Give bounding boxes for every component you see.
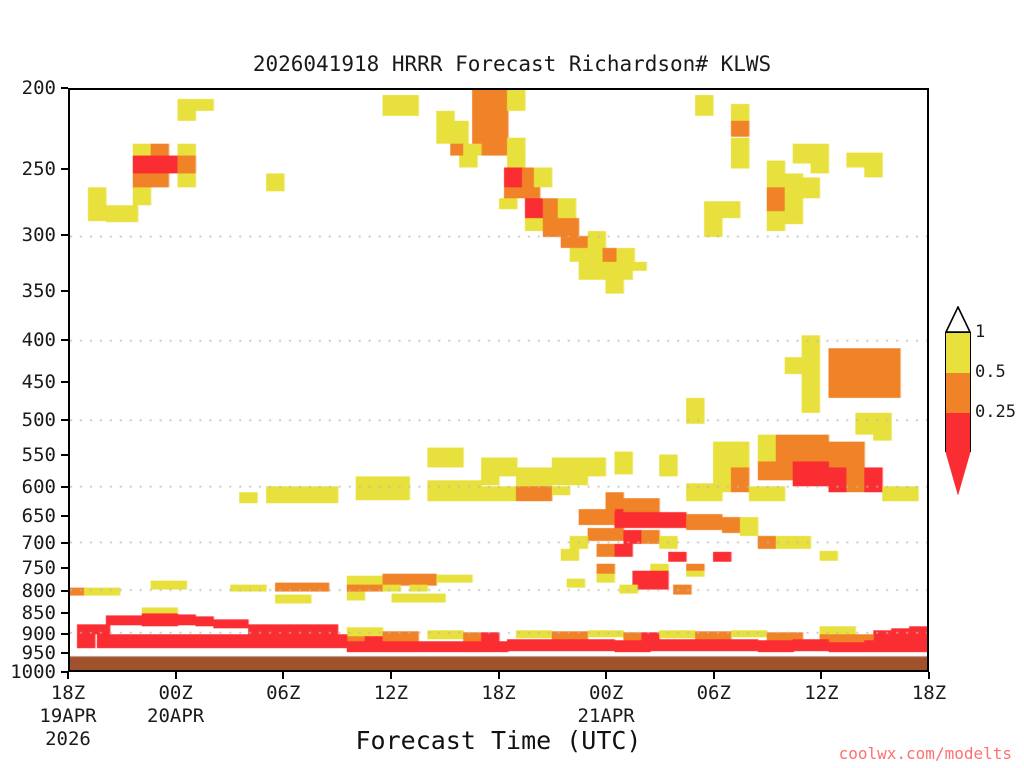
y-tick-mark	[61, 419, 68, 421]
x-tick-mark	[390, 672, 392, 679]
x-tick-mark	[498, 672, 500, 679]
colorbar-segment	[946, 373, 970, 414]
x-tick-date-label: 21APR	[578, 705, 635, 727]
y-tick-mark	[61, 234, 68, 236]
x-tick-mark	[928, 672, 930, 679]
colorbar-segment	[946, 333, 970, 374]
y-tick-label: 350	[22, 280, 56, 302]
colorbar-tick-label: 1	[975, 322, 985, 342]
colorbar: 10.50.25	[944, 306, 1024, 496]
y-tick-label: 1000	[10, 661, 56, 683]
y-tick-mark	[61, 381, 68, 383]
y-tick-label: 800	[22, 580, 56, 602]
y-tick-label: 650	[22, 505, 56, 527]
x-tick-label: 06Z	[266, 682, 300, 704]
x-tick-label: 00Z	[589, 682, 623, 704]
y-tick-label: 500	[22, 409, 56, 431]
y-tick-mark	[61, 339, 68, 341]
chart-title: 2026041918 HRRR Forecast Richardson# KLW…	[0, 52, 1024, 76]
y-tick-label: 700	[22, 532, 56, 554]
chart-root: 2026041918 HRRR Forecast Richardson# KLW…	[0, 0, 1024, 768]
x-tick-mark	[820, 672, 822, 679]
colorbar-segment	[946, 413, 970, 453]
plot-area	[68, 88, 929, 672]
y-tick-label: 400	[22, 329, 56, 351]
y-tick-mark	[61, 515, 68, 517]
y-tick-mark	[61, 87, 68, 89]
y-tick-label: 750	[22, 557, 56, 579]
y-tick-mark	[61, 633, 68, 635]
y-tick-mark	[61, 168, 68, 170]
y-tick-mark	[61, 612, 68, 614]
x-tick-mark	[713, 672, 715, 679]
x-tick-label: 18Z	[51, 682, 85, 704]
y-tick-label: 550	[22, 444, 56, 466]
x-tick-date-label: 20APR	[147, 705, 204, 727]
y-tick-label: 600	[22, 476, 56, 498]
colorbar-tick-label: 0.5	[975, 362, 1006, 382]
colorbar-under-arrow	[945, 451, 971, 495]
y-tick-mark	[61, 590, 68, 592]
y-tick-label: 300	[22, 224, 56, 246]
y-tick-label: 450	[22, 371, 56, 393]
colorbar-over-arrow	[945, 306, 971, 333]
y-tick-mark	[61, 290, 68, 292]
x-tick-mark	[67, 672, 69, 679]
y-tick-mark	[61, 454, 68, 456]
heatmap-cells	[70, 90, 927, 670]
x-tick-date-label: 19APR	[39, 705, 96, 727]
x-tick-mark	[175, 672, 177, 679]
colorbar-tick-label: 0.25	[975, 402, 1016, 422]
x-tick-label: 12Z	[804, 682, 838, 704]
y-axis: 2002503003504004505005506006507007508008…	[0, 88, 68, 672]
x-tick-label: 06Z	[697, 682, 731, 704]
x-tick-label: 18Z	[912, 682, 946, 704]
watermark: coolwx.com/modelts	[839, 744, 1012, 763]
y-tick-label: 250	[22, 158, 56, 180]
colorbar-body	[945, 332, 971, 452]
y-tick-mark	[61, 567, 68, 569]
y-tick-label: 850	[22, 602, 56, 624]
x-axis-label: Forecast Time (UTC)	[68, 726, 929, 755]
y-tick-label: 200	[22, 77, 56, 99]
x-tick-mark	[605, 672, 607, 679]
x-tick-label: 00Z	[158, 682, 192, 704]
y-tick-mark	[61, 542, 68, 544]
x-tick-mark	[282, 672, 284, 679]
y-tick-mark	[61, 652, 68, 654]
y-tick-mark	[61, 486, 68, 488]
x-tick-label: 12Z	[374, 682, 408, 704]
x-tick-label: 18Z	[481, 682, 515, 704]
